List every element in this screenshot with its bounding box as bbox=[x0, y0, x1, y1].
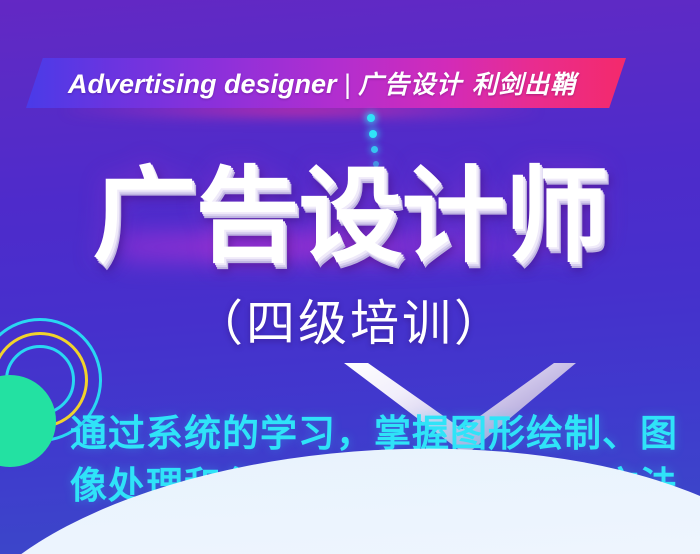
decor-dot-2 bbox=[369, 130, 377, 138]
decor-dot-1 bbox=[367, 114, 375, 122]
banner-english-text: Advertising designer bbox=[68, 69, 337, 99]
banner-chinese-text-2: 利剑出鞘 bbox=[472, 71, 576, 99]
banner-parallelogram: Advertising designer|广告设计利剑出鞘 bbox=[26, 58, 626, 108]
poster-canvas: Advertising designer|广告设计利剑出鞘 广告设计师 （四级培… bbox=[0, 0, 700, 554]
banner-container: Advertising designer|广告设计利剑出鞘 bbox=[26, 58, 626, 108]
banner-separator: | bbox=[337, 69, 359, 99]
page-title: 广告设计师 bbox=[0, 158, 700, 276]
decor-dot-3 bbox=[371, 146, 378, 153]
banner-chinese-text-1: 广告设计 bbox=[358, 71, 462, 99]
page-subtitle: （四级培训） bbox=[0, 284, 700, 355]
headline-container: 广告设计师 bbox=[0, 158, 700, 293]
banner-text: Advertising designer|广告设计利剑出鞘 bbox=[68, 65, 576, 101]
